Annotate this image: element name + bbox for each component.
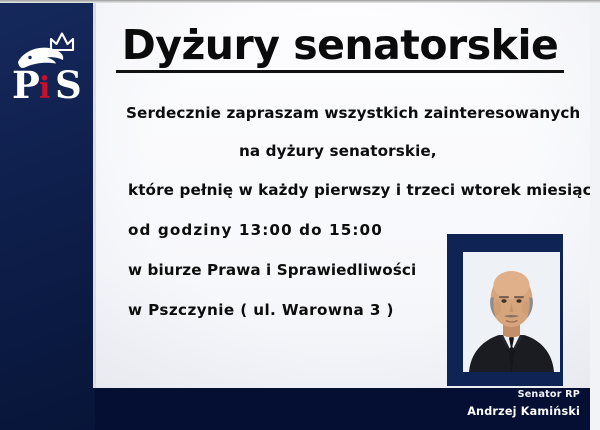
svg-text:P: P bbox=[12, 63, 40, 107]
scan-right-margin bbox=[590, 0, 600, 430]
senator-photo-svg bbox=[463, 252, 560, 372]
poster-title-wrap: Dyżury senatorskie bbox=[100, 24, 580, 73]
svg-text:S: S bbox=[55, 63, 82, 107]
body-line-3: które pełnię w każdy pierwszy i trzeci w… bbox=[128, 181, 594, 199]
caption-role: Senator RP bbox=[430, 389, 580, 400]
scan-top-border bbox=[0, 0, 600, 3]
svg-text:i: i bbox=[39, 71, 50, 106]
pis-logo-svg: P S i bbox=[8, 22, 90, 108]
caption-name: Andrzej Kamiński bbox=[430, 405, 580, 418]
senator-photo bbox=[463, 252, 560, 372]
body-line-1: Serdecznie zapraszam wszystkich zaintere… bbox=[126, 104, 594, 122]
crown-icon bbox=[51, 34, 73, 51]
pis-logo: P S i bbox=[8, 22, 90, 108]
photo-caption: Senator RP Andrzej Kamiński bbox=[430, 389, 598, 418]
poster-canvas: P S i Dyżury senatorskie Serdecznie zapr… bbox=[0, 0, 600, 430]
poster-title: Dyżury senatorskie bbox=[116, 24, 565, 73]
pis-wordmark: P S i bbox=[12, 63, 82, 107]
body-line-2: na dyżury senatorskie, bbox=[239, 142, 594, 160]
